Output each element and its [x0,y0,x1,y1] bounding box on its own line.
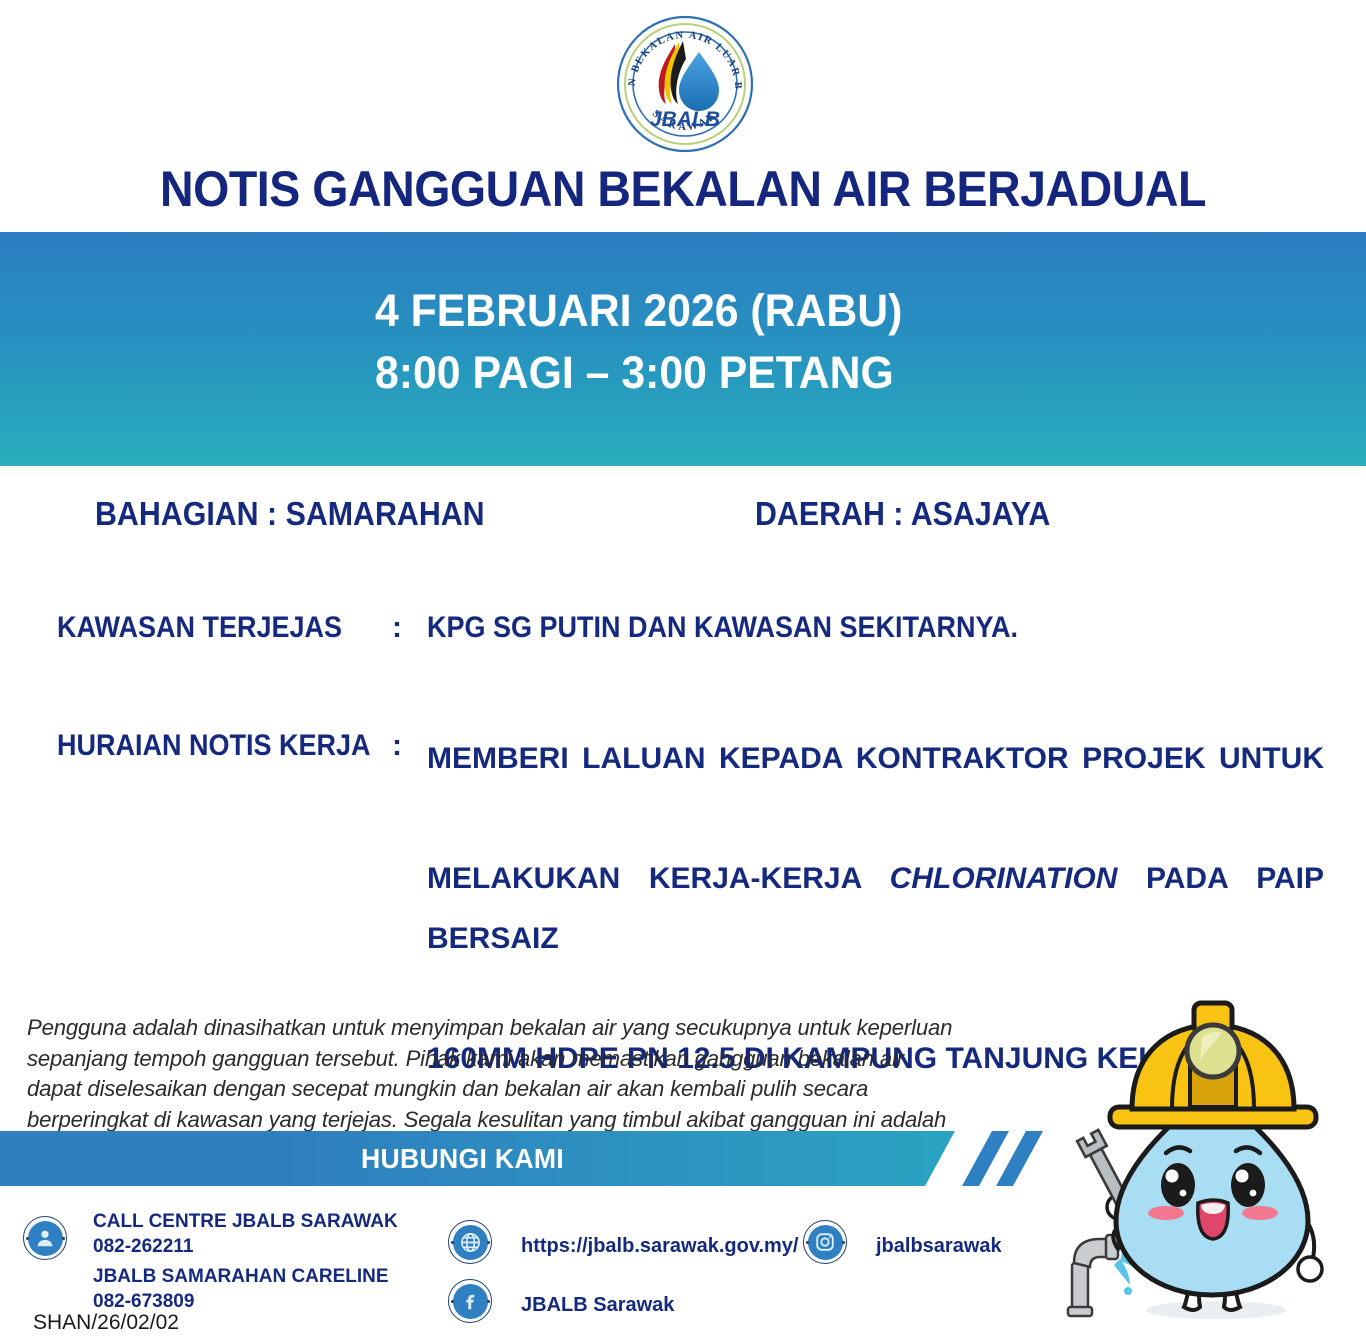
water-droplet-mascot [1044,995,1354,1335]
jbalb-logo: JABATAN BEKALAN AIR LUAR BANDAR SARAWAK … [615,14,755,154]
instagram-handle[interactable]: jbalbsarawak [876,1233,1002,1259]
contact-banner: HUBUNGI KAMI [0,1131,1002,1186]
outage-date: 4 FEBRUARI 2026 (RABU) [375,280,902,342]
svg-text:JBALB: JBALB [650,108,720,131]
huraian-line-1: MEMBERI LALUAN KEPADA KONTRAKTOR PROJEK … [427,729,1324,849]
globe-icon[interactable] [448,1220,492,1264]
person-icon [23,1216,67,1260]
call-centre-name: CALL CENTRE JBALB SARAWAK [93,1209,398,1234]
call-centre-phone[interactable]: 082-262211 [93,1234,398,1259]
facebook-handle[interactable]: JBALB Sarawak [521,1292,674,1318]
page-title: NOTIS GANGGUAN BEKALAN AIR BERJADUAL [48,160,1318,218]
kawasan-terjejas-value: KPG SG PUTIN DAN KAWASAN SEKITARNYA. [427,611,1018,645]
contact-banner-label: HUBUNGI KAMI [23,1131,902,1186]
notice-page: JABATAN BEKALAN AIR LUAR BANDAR SARAWAK … [0,0,1366,1340]
huraian-notis-kerja-label: HURAIAN NOTIS KERJA [57,729,371,763]
huraian-line-2-prefix: MELAKUKAN KERJA-KERJA [427,862,890,895]
outage-time: 8:00 PAGI – 3:00 PETANG [375,342,902,404]
careline-block: JBALB SAMARAHAN CARELINE 082-673809 [93,1264,389,1314]
kawasan-terjejas-label: KAWASAN TERJEJAS [57,611,342,645]
reference-code: SHAN/26/02/02 [33,1311,179,1335]
date-time-banner: 4 FEBRUARI 2026 (RABU) 8:00 PAGI – 3:00 … [0,232,1366,466]
kawasan-colon: : [392,611,402,645]
bahagian-field: BAHAGIAN : SAMARAHAN [95,495,485,533]
daerah-field: DAERAH : ASAJAYA [755,495,1050,533]
call-centre-block: CALL CENTRE JBALB SARAWAK 082-262211 [93,1209,398,1259]
huraian-colon: : [392,729,402,763]
careline-name: JBALB SAMARAHAN CARELINE [93,1264,389,1289]
instagram-icon[interactable] [803,1220,847,1264]
huraian-keyword-chlorination: CHLORINATION [890,862,1118,895]
facebook-icon[interactable] [448,1279,492,1323]
website-link[interactable]: https://jbalb.sarawak.gov.my/ [521,1233,798,1259]
